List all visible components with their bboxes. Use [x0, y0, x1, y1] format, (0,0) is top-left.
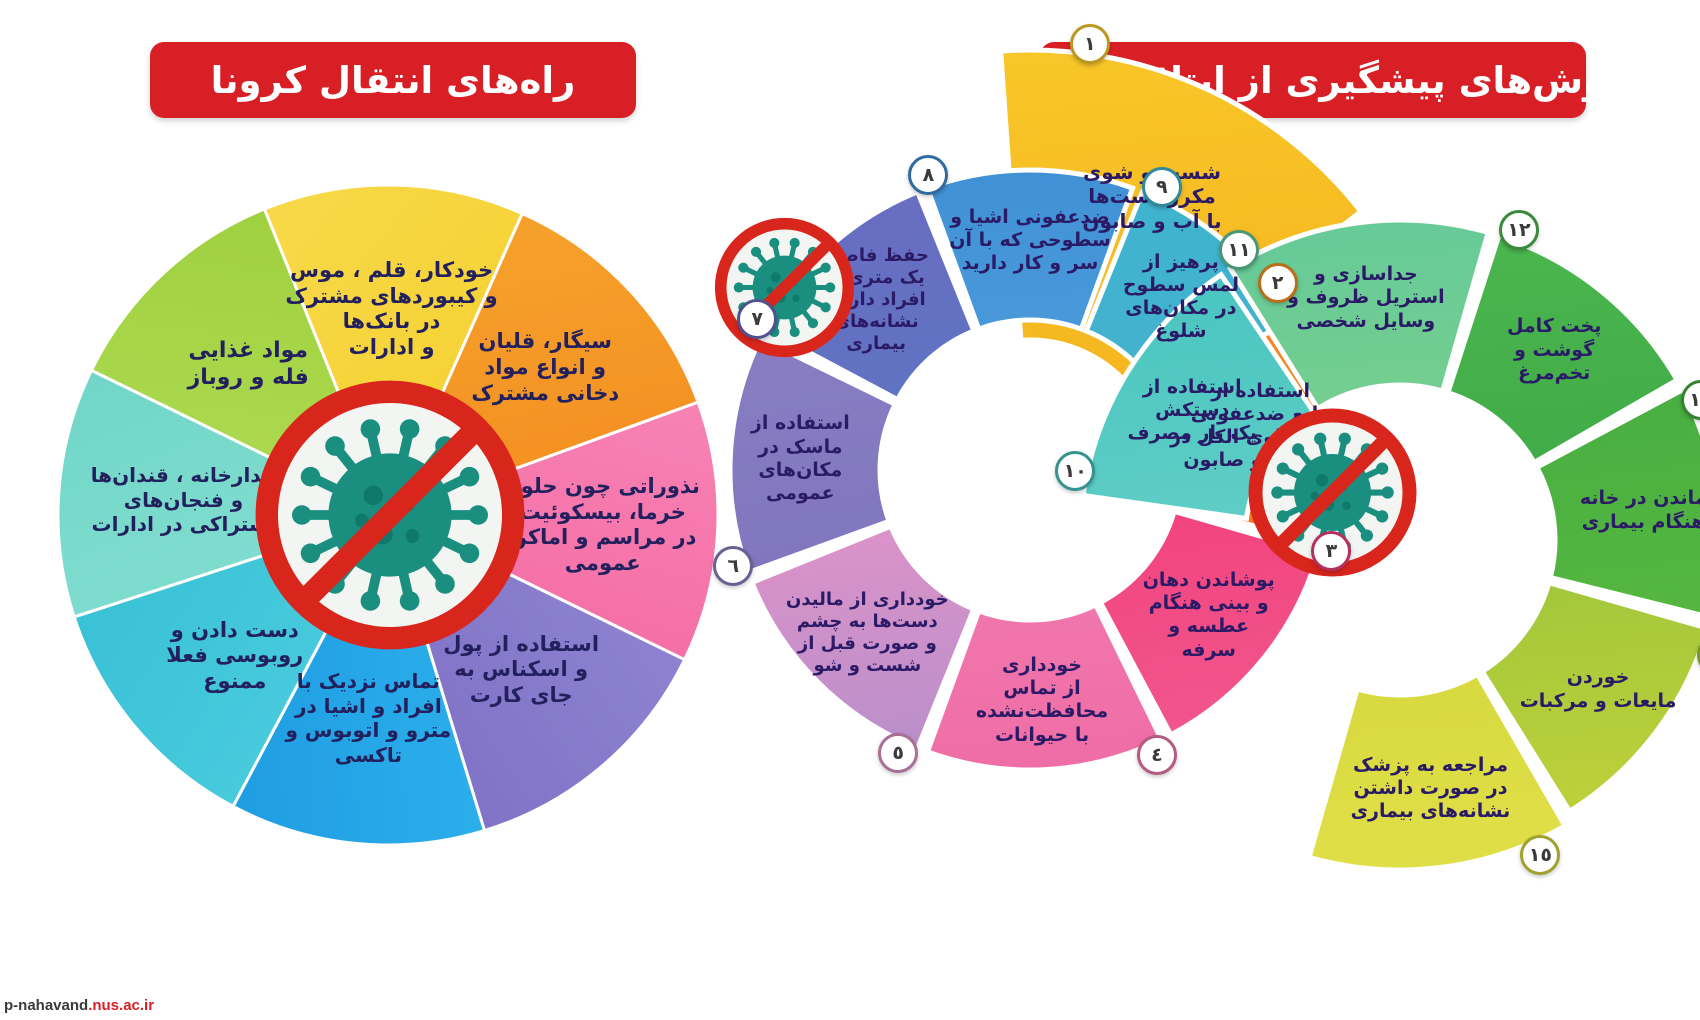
- no-virus-sign-icon-transmission: [250, 375, 530, 655]
- prevention-segment-badge: ۹: [1142, 167, 1182, 207]
- infographic-canvas: راه‌های انتقال کرونا روش‌های پیشگیری از …: [0, 0, 1700, 1020]
- prevention-segment-badge: ۱: [1070, 24, 1110, 64]
- no-virus-sign-icon-prevention-left: [712, 215, 857, 360]
- watermark: p-nahavand.nus.ac.ir: [4, 997, 154, 1014]
- watermark-main: p-nahavand: [4, 997, 88, 1014]
- prevention-segment-badge: ٥: [878, 733, 918, 773]
- prevention-segment-badge: ٤: [1137, 735, 1177, 775]
- prevention-segment-badge: ۱۰: [1055, 451, 1095, 491]
- prevention-segment-badge: ٧: [737, 299, 777, 339]
- prevention-segment-badge: ۱۱: [1219, 230, 1259, 270]
- watermark-domain: .nus.ac.ir: [88, 997, 154, 1014]
- prevention-segment-badge: ۲: [1258, 263, 1298, 303]
- prevention-segment-badge: ۳: [1311, 531, 1351, 571]
- prevention-segment-badge: ۱۲: [1499, 210, 1539, 250]
